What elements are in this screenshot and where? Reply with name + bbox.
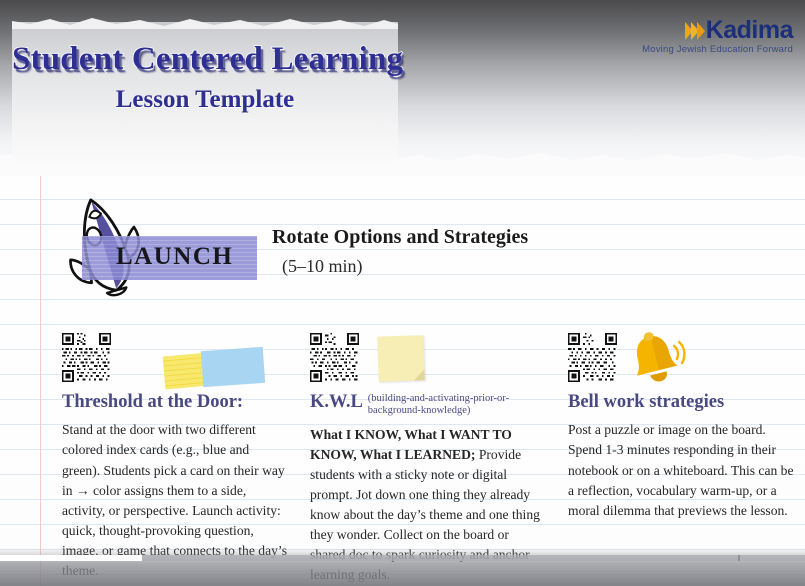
column-heading-row: K.W.L (building-and-activating-prior-or-… — [310, 392, 542, 417]
torn-top-svg — [12, 15, 398, 29]
section-heading: Rotate Options and Strategies — [272, 226, 528, 249]
strategy-column-bellwork: Bell work strategies Post a puzzle or im… — [568, 330, 796, 521]
qr-code-icon[interactable] — [310, 333, 359, 382]
logo-wordmark: Kadima — [706, 18, 793, 43]
chevron-right-icon — [697, 22, 705, 40]
horizontal-scrollbar-thumb[interactable] — [0, 555, 142, 561]
column-body-text: Provide students with a sticky note or d… — [310, 447, 540, 583]
qr-code-icon[interactable] — [62, 333, 111, 382]
slide-page: Student Centered Learning Lesson Templat… — [0, 0, 805, 586]
kadima-logo: Kadima Moving Jewish Education Forward — [642, 18, 793, 55]
column-icons — [62, 330, 290, 388]
column-body: What I KNOW, What I WANT TO KNOW, What I… — [310, 425, 542, 586]
section-duration: (5–10 min) — [282, 256, 363, 277]
logo-row: Kadima — [642, 18, 793, 43]
strategy-column-kwl: K.W.L (building-and-activating-prior-or-… — [310, 330, 542, 585]
column-subnote: (building-and-activating-prior-or-backgr… — [368, 393, 528, 417]
column-heading: K.W.L — [310, 392, 363, 412]
column-body: Post a puzzle or image on the board. Spe… — [568, 420, 796, 521]
page-subtitle: Lesson Template — [12, 86, 398, 114]
column-icons — [568, 330, 796, 388]
logo-tagline: Moving Jewish Education Forward — [642, 45, 793, 55]
sticky-note-icon — [377, 335, 425, 382]
qr-code-icon[interactable] — [568, 333, 617, 382]
column-icons — [310, 330, 542, 388]
strategy-column-threshold: Threshold at the Door: Stand at the door… — [62, 330, 290, 581]
bell-icon — [626, 330, 688, 386]
index-cards-icon — [162, 344, 254, 392]
index-card-blue — [201, 347, 265, 387]
column-heading: Threshold at the Door: — [62, 392, 290, 412]
torn-bottom-svg — [12, 162, 398, 176]
page-title: Student Centered Learning — [12, 42, 398, 77]
scrollbar-tick — [738, 555, 740, 561]
title-card-torn-bottom — [12, 162, 398, 176]
launch-label: LAUNCH — [116, 243, 233, 271]
title-card-torn-top — [12, 15, 398, 29]
title-card: Student Centered Learning Lesson Templat… — [12, 22, 398, 168]
column-heading: Bell work strategies — [568, 392, 796, 412]
